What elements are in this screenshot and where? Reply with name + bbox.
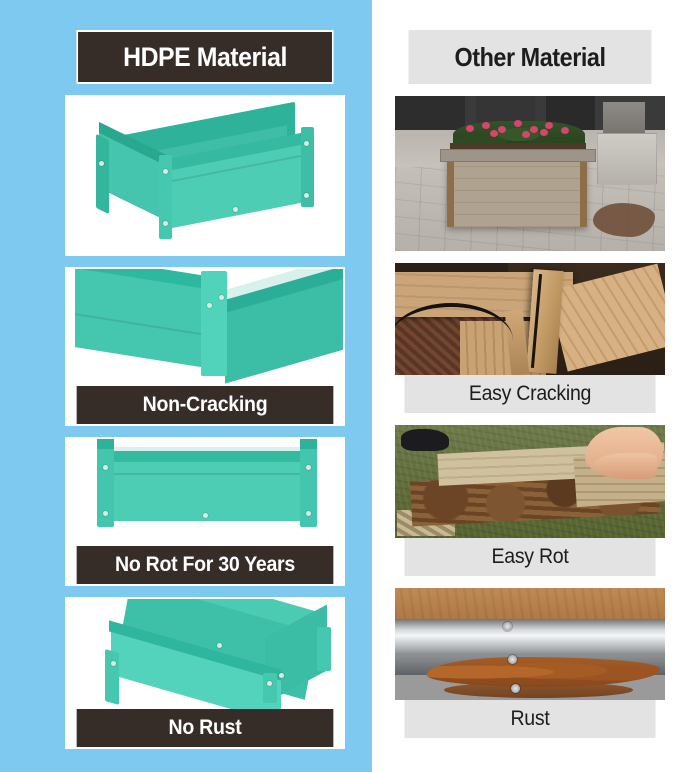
hdpe-card-4: No Rust: [65, 597, 345, 749]
other-card-1: [395, 96, 665, 251]
comparison-infographic: HDPE Material: [0, 0, 679, 772]
hdpe-card-3: No Rot For 30 Years: [65, 437, 345, 586]
other-caption-rust: Rust: [404, 700, 655, 738]
hdpe-caption-no-rot: No Rot For 30 Years: [77, 546, 334, 584]
other-caption-easy-cracking: Easy Cracking: [404, 375, 655, 413]
hdpe-caption-no-rust: No Rust: [77, 709, 334, 747]
hdpe-card-2: Non-Cracking: [65, 267, 345, 426]
wooden-planter-photo: [395, 96, 665, 251]
other-card-2: Easy Cracking: [395, 263, 665, 413]
hdpe-column: HDPE Material: [0, 0, 372, 772]
cracked-wood-photo: [395, 263, 665, 375]
hdpe-planter-three-quarter-image: [67, 97, 343, 254]
rusted-metal-photo: [395, 588, 665, 700]
other-column-header: Other Material: [409, 30, 652, 84]
other-card-4: Rust: [395, 588, 665, 738]
hdpe-planter-interior-image: [67, 599, 343, 709]
other-material-column: Other Material: [372, 0, 679, 772]
hdpe-planter-front-image: [67, 439, 343, 546]
hdpe-column-header: HDPE Material: [76, 30, 334, 84]
hdpe-planter-corner-image: [67, 269, 343, 386]
rotted-wood-photo: [395, 425, 665, 538]
hdpe-caption-non-cracking: Non-Cracking: [77, 386, 334, 424]
other-caption-easy-rot: Easy Rot: [404, 538, 655, 576]
other-card-3: Easy Rot: [395, 425, 665, 576]
hdpe-card-1: [65, 95, 345, 256]
